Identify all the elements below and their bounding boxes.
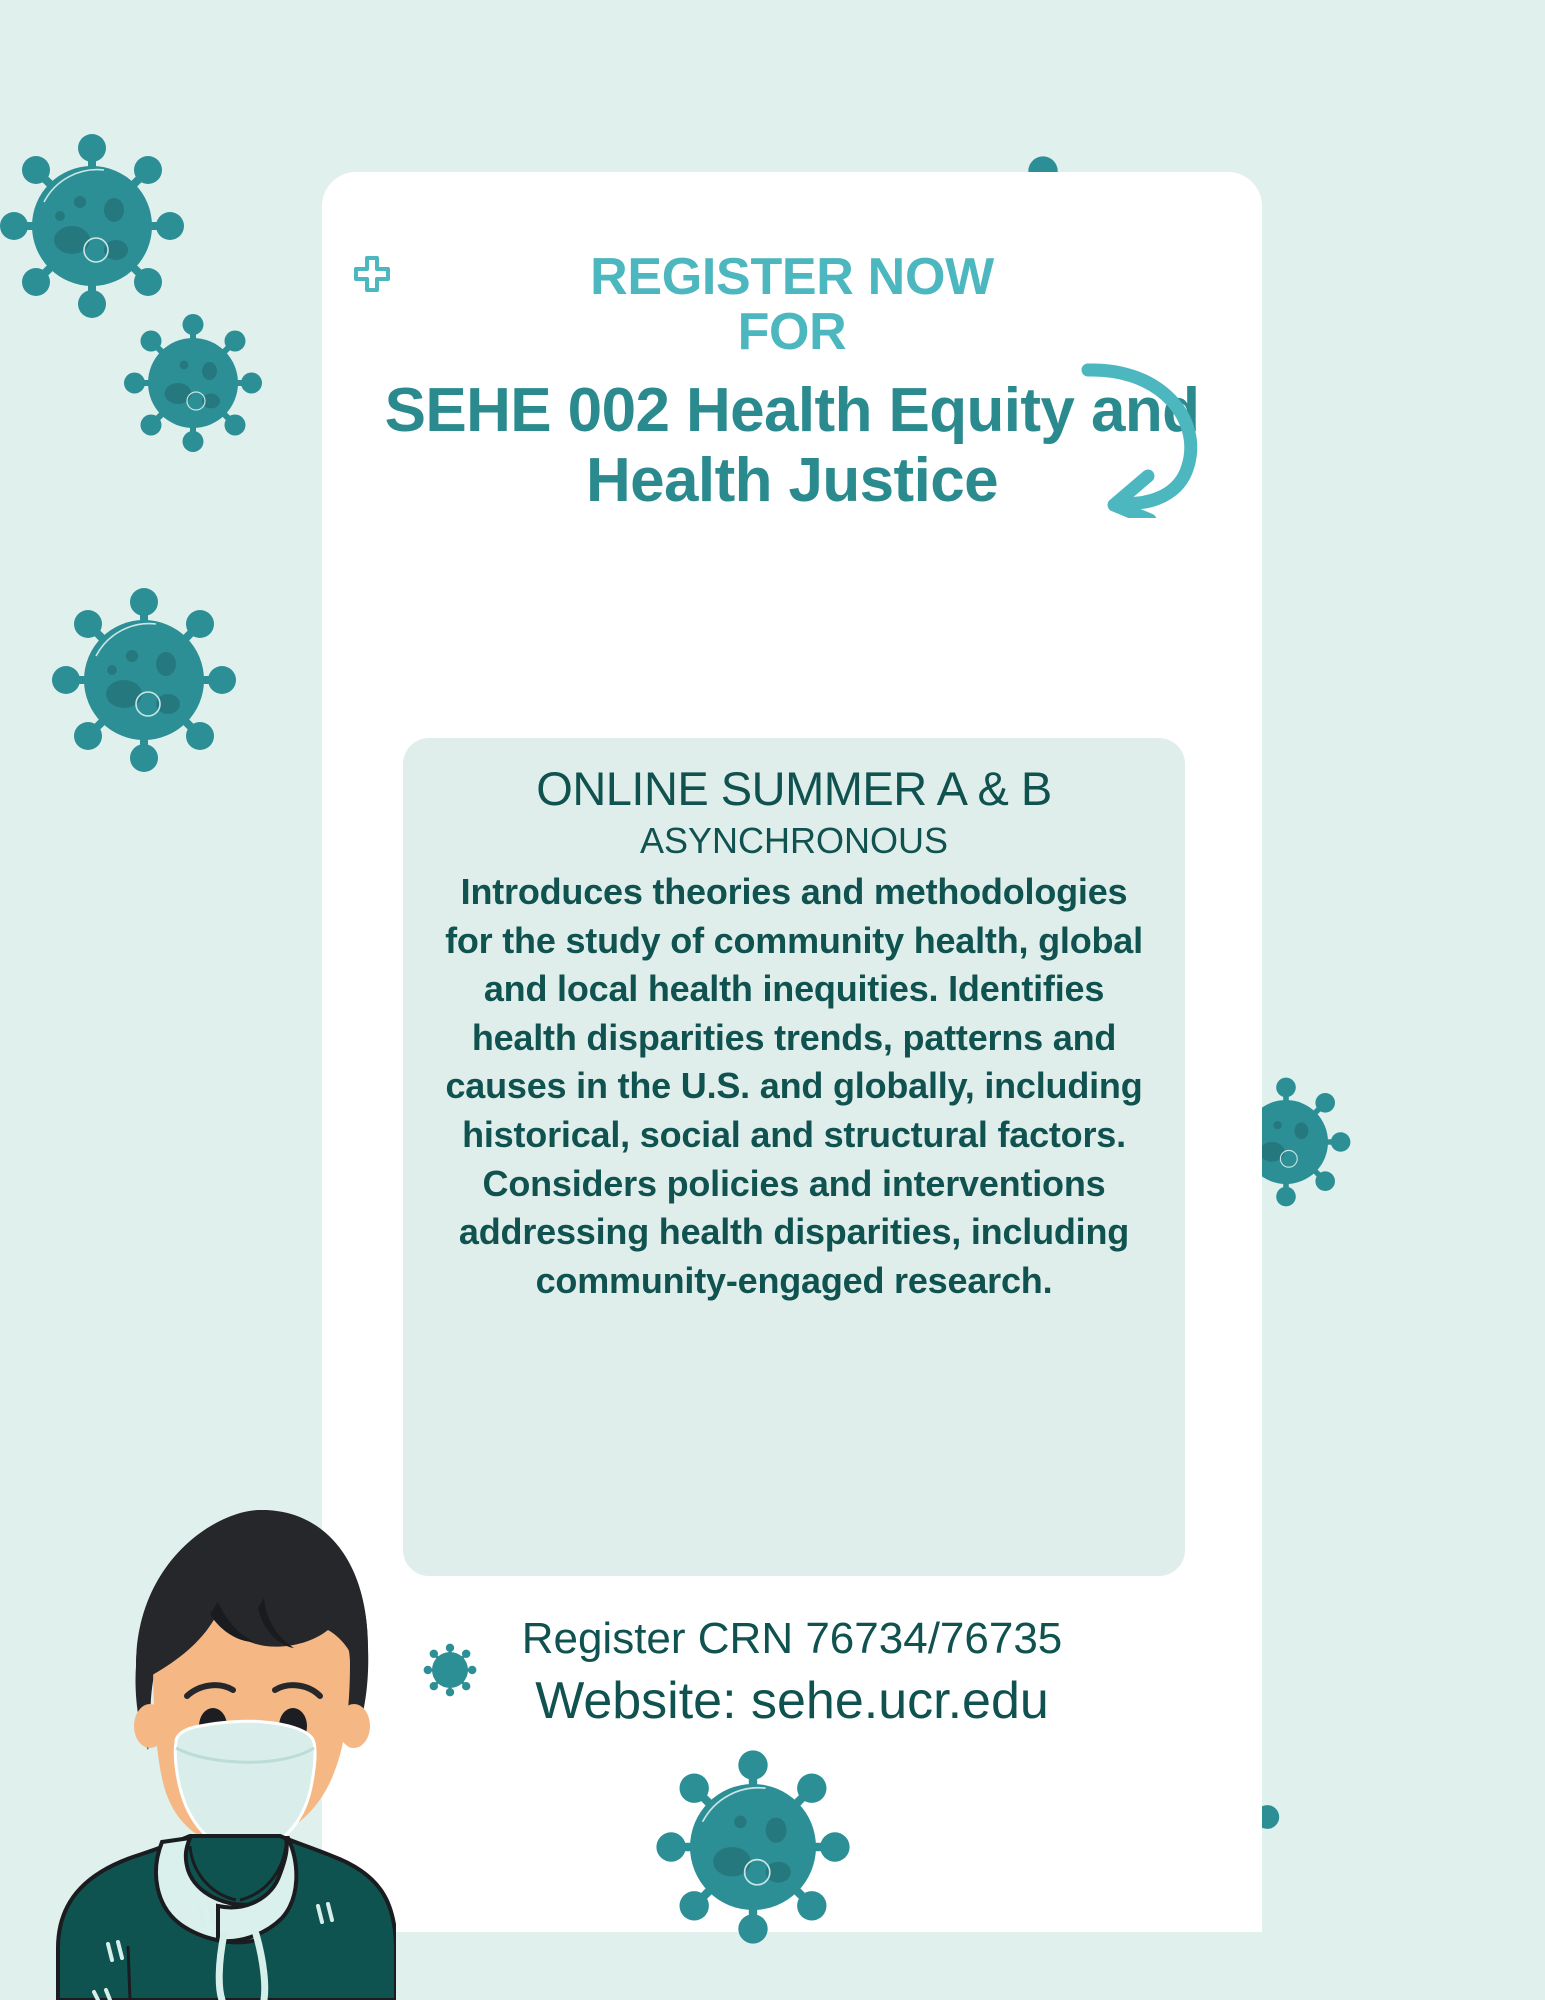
masked-person-illustration [50,1498,396,2000]
website-line[interactable]: Website: sehe.ucr.edu [322,1670,1262,1733]
poster-canvas: REGISTER NOW FOR SEHE 002 Health Equity … [0,0,1545,2000]
description-body: Introduces theories and methodologies fo… [439,868,1149,1305]
curved-arrow-icon [1040,348,1220,518]
description-subheading: ASYNCHRONOUS [439,819,1149,862]
virus-particle-icon [648,1742,858,1952]
description-heading: ONLINE SUMMER A & B [439,764,1149,815]
virus-particle-icon [44,580,244,780]
medical-cross-icon [352,256,392,296]
eyebrow-line-1: REGISTER NOW [322,250,1262,305]
crn-line: Register CRN 76734/76735 [322,1612,1262,1666]
virus-particle-icon [0,126,192,326]
virus-particle-icon [118,308,268,458]
course-description-panel: ONLINE SUMMER A & B ASYNCHRONOUS Introdu… [403,738,1185,1576]
registration-info: Register CRN 76734/76735 Website: sehe.u… [322,1612,1262,1733]
